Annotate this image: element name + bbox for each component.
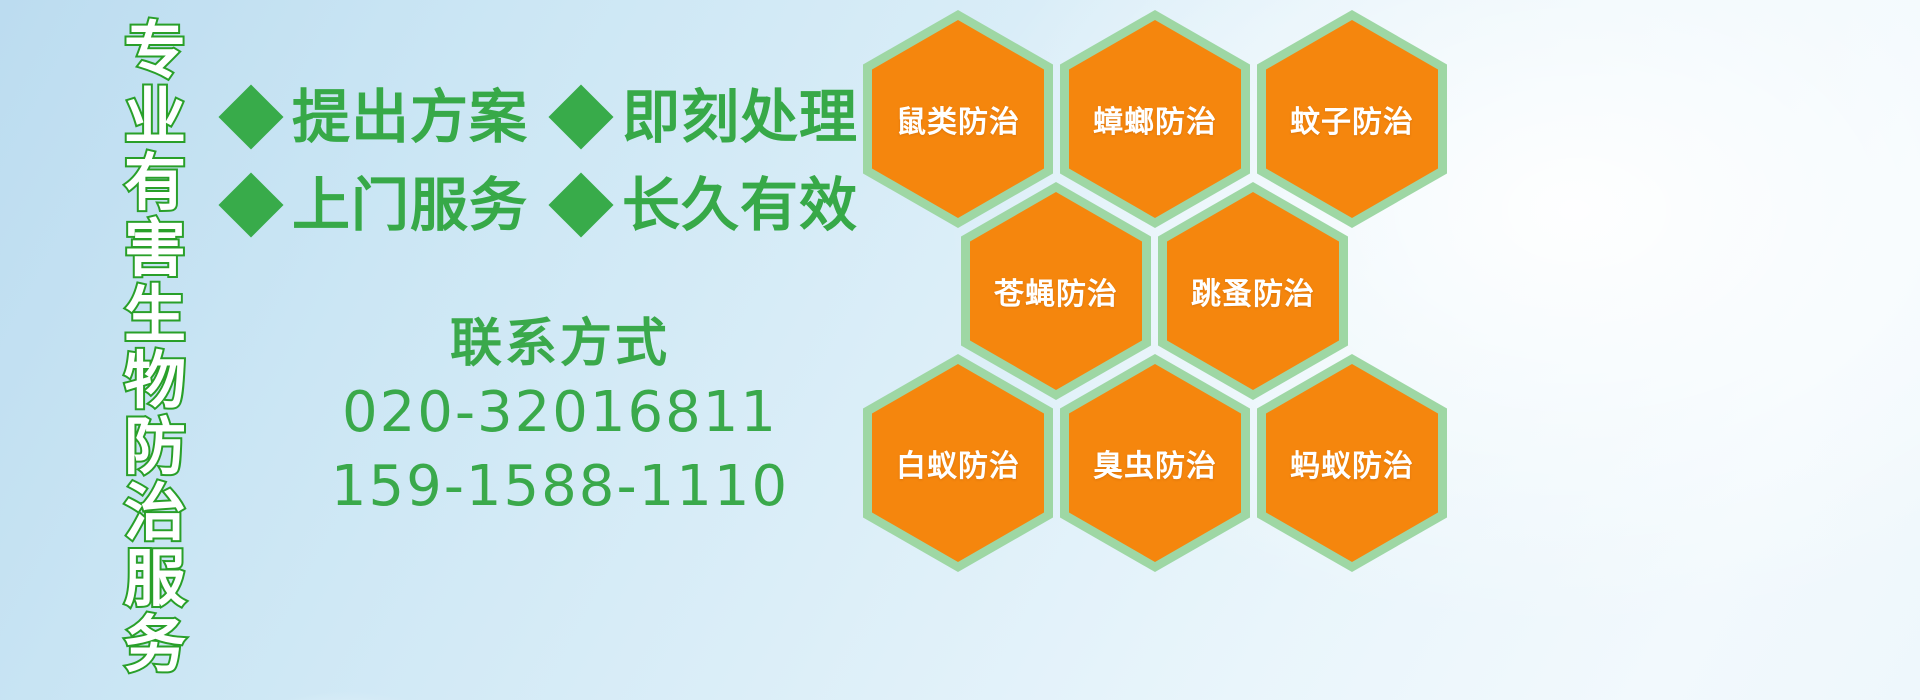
- service-hex-cockroach[interactable]: 蟑螂防治: [1060, 10, 1250, 228]
- vertical-headline-char: 专: [124, 18, 186, 84]
- contact-phone-mobile[interactable]: 159-1588-1110: [300, 450, 820, 524]
- vertical-headline-char: 防: [124, 414, 186, 480]
- vertical-headline-char: 害: [124, 216, 186, 282]
- service-hex-inner: 跳蚤防治: [1167, 192, 1339, 390]
- vertical-headline-char: 务: [124, 612, 186, 678]
- service-hex-label: 蟑螂防治: [1093, 97, 1217, 141]
- vertical-headline-char: 有: [124, 150, 186, 216]
- contact-block: 联系方式 020-32016811 159-1588-1110: [300, 312, 820, 524]
- feature-row: 上门服务 长久有效: [228, 174, 858, 236]
- diamond-icon: [218, 172, 283, 237]
- service-hex-label: 蚂蚁防治: [1290, 441, 1414, 485]
- feature-label: 上门服务: [292, 174, 528, 236]
- diamond-icon: [548, 84, 613, 149]
- feature-label: 长久有效: [622, 174, 858, 236]
- service-hex-inner: 白蚁防治: [872, 364, 1044, 562]
- diamond-icon: [548, 172, 613, 237]
- service-hex-inner: 苍蝇防治: [970, 192, 1142, 390]
- service-hex-flea[interactable]: 跳蚤防治: [1158, 182, 1348, 400]
- service-hex-inner: 蚂蚁防治: [1266, 364, 1438, 562]
- feature-label: 即刻处理: [622, 86, 858, 148]
- service-hex-label: 臭虫防治: [1093, 441, 1217, 485]
- feature-list: 提出方案 即刻处理 上门服务 长久有效: [228, 86, 858, 262]
- feature-item: 提出方案: [228, 86, 528, 148]
- service-hex-label: 跳蚤防治: [1191, 269, 1315, 313]
- service-hex-inner: 蚊子防治: [1266, 20, 1438, 218]
- contact-phone-landline[interactable]: 020-32016811: [300, 376, 820, 450]
- service-hex-label: 蚊子防治: [1290, 97, 1414, 141]
- service-hexagon-grid: 鼠类防治 蟑螂防治 蚊子防治 苍蝇防治 跳蚤防治 白蚁防: [855, 0, 1475, 700]
- service-hex-fly[interactable]: 苍蝇防治: [961, 182, 1151, 400]
- service-hex-termite[interactable]: 白蚁防治: [863, 354, 1053, 572]
- service-hex-label: 苍蝇防治: [994, 269, 1118, 313]
- feature-item: 上门服务: [228, 174, 528, 236]
- vertical-headline-char: 治: [124, 480, 186, 546]
- service-hex-rodent[interactable]: 鼠类防治: [863, 10, 1053, 228]
- diamond-icon: [218, 84, 283, 149]
- service-hex-label: 鼠类防治: [896, 97, 1020, 141]
- contact-title: 联系方式: [300, 312, 820, 376]
- feature-label: 提出方案: [292, 86, 528, 148]
- service-hex-inner: 蟑螂防治: [1069, 20, 1241, 218]
- service-hex-label: 白蚁防治: [896, 441, 1020, 485]
- vertical-headline-char: 物: [124, 348, 186, 414]
- service-hex-ant[interactable]: 蚂蚁防治: [1257, 354, 1447, 572]
- feature-item: 即刻处理: [558, 86, 858, 148]
- service-hex-mosquito[interactable]: 蚊子防治: [1257, 10, 1447, 228]
- promo-banner: 专 业 有 害 生 物 防 治 服 务 提出方案 即刻处理 上门服务: [0, 0, 1920, 700]
- service-hex-inner: 鼠类防治: [872, 20, 1044, 218]
- service-hex-bedbug[interactable]: 臭虫防治: [1060, 354, 1250, 572]
- vertical-headline-char: 服: [124, 546, 186, 612]
- feature-item: 长久有效: [558, 174, 858, 236]
- feature-row: 提出方案 即刻处理: [228, 86, 858, 148]
- vertical-headline-char: 业: [124, 84, 186, 150]
- service-hex-inner: 臭虫防治: [1069, 364, 1241, 562]
- vertical-headline: 专 业 有 害 生 物 防 治 服 务: [112, 18, 198, 678]
- vertical-headline-char: 生: [124, 282, 186, 348]
